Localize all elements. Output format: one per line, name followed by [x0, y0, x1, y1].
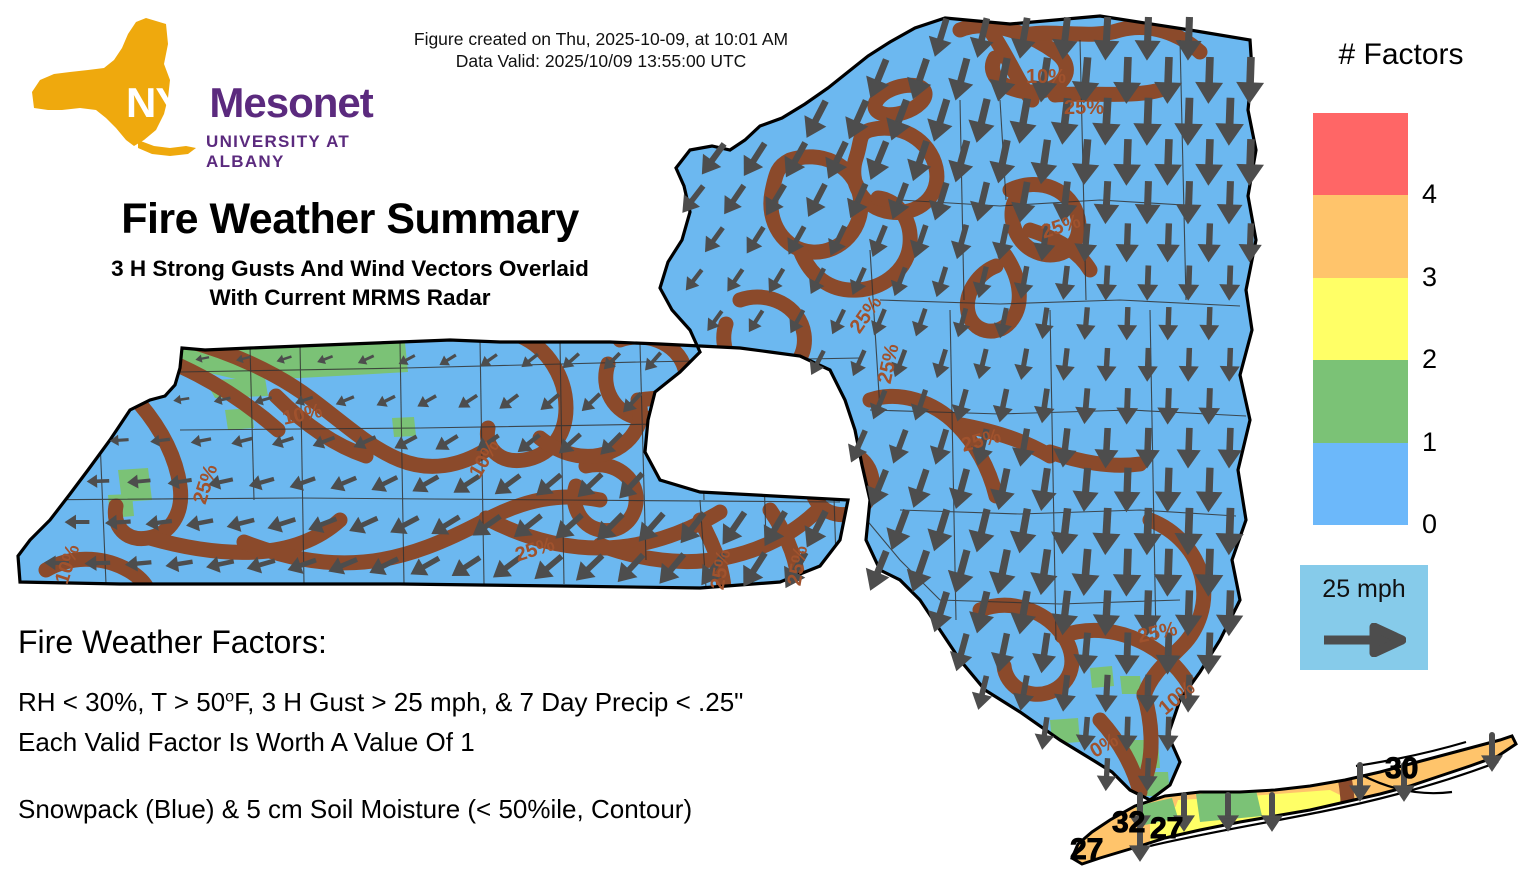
station-gust-label: 30	[1385, 752, 1418, 786]
figure-metadata: Figure created on Thu, 2025-10-09, at 10…	[366, 28, 836, 73]
colorbar-tick-2: 2	[1422, 346, 1437, 373]
footer-spacer	[18, 763, 918, 789]
station-gust-label: 27	[1150, 812, 1183, 846]
footer-snowpack-line: Snowpack (Blue) & 5 cm Soil Moisture (< …	[18, 789, 918, 829]
legend-title: # Factors	[1286, 38, 1516, 72]
factors-colorbar	[1313, 113, 1408, 525]
footer-criteria-line: RH < 30%, T > 50oF, 3 H Gust > 25 mph, &…	[18, 682, 918, 722]
station-gust-label: 32	[1112, 806, 1145, 840]
figure-created-text: Figure created on Thu, 2025-10-09, at 10…	[366, 28, 836, 50]
colorbar-band-4	[1313, 113, 1408, 195]
colorbar-tick-4: 4	[1422, 181, 1437, 208]
colorbar-band-34	[1313, 195, 1408, 277]
wind-vector-key-label: 25 mph	[1300, 575, 1428, 604]
colorbar-tick-1: 1	[1422, 429, 1437, 456]
colorbar-tick-0: 0	[1422, 511, 1437, 538]
page-subtitle-line2: With Current MRMS Radar	[0, 284, 700, 313]
colorbar-band-01	[1313, 443, 1408, 525]
wind-vector-key: 25 mph	[1300, 565, 1428, 670]
footer-heading: Fire Weather Factors:	[18, 625, 918, 660]
wind-arrow-icon	[1322, 623, 1406, 657]
degree-symbol: o	[225, 688, 234, 706]
station-gust-label: 27	[1070, 833, 1103, 867]
colorbar-tick-3: 3	[1422, 264, 1437, 291]
page-title: Fire Weather Summary	[0, 195, 700, 244]
logo-mesonet-text: Mesonet	[209, 79, 372, 126]
logo-nys-text: NYS	[126, 79, 209, 126]
footer-criteria-post: F, 3 H Gust > 25 mph, & 7 Day Precip < .…	[234, 687, 743, 717]
colorbar-band-12	[1313, 360, 1408, 442]
footer-value-line: Each Valid Factor Is Worth A Value Of 1	[18, 722, 918, 762]
logo-subtitle: UNIVERSITY AT ALBANY	[206, 132, 388, 172]
contour-label: 10%	[1026, 66, 1066, 89]
data-valid-text: Data Valid: 2025/10/09 13:55:00 UTC	[366, 50, 836, 72]
page-subtitle: 3 H Strong Gusts And Wind Vectors Overla…	[0, 255, 700, 313]
page-subtitle-line1: 3 H Strong Gusts And Wind Vectors Overla…	[0, 255, 700, 284]
contour-label: 25%	[1064, 97, 1104, 120]
fire-weather-factors-block: Fire Weather Factors: RH < 30%, T > 50oF…	[18, 625, 918, 829]
footer-criteria-pre: RH < 30%, T > 50	[18, 687, 225, 717]
colorbar-band-23	[1313, 278, 1408, 360]
colorbar-tick-labels: 43210	[1422, 113, 1482, 525]
nys-mesonet-logo: NYSMesonet UNIVERSITY AT ALBANY	[18, 14, 388, 164]
